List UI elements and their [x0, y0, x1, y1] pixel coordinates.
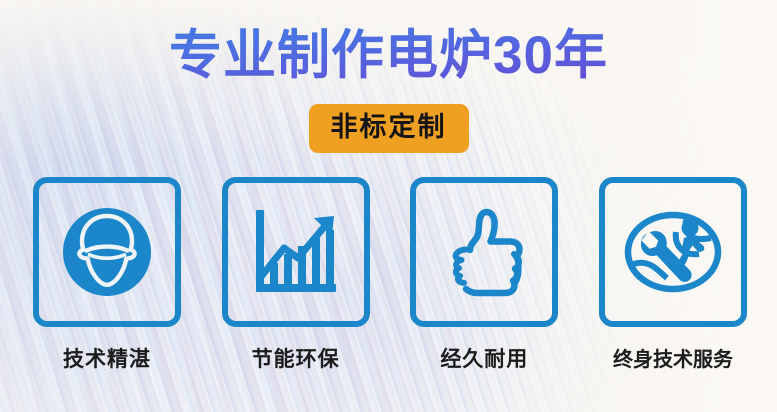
- promo-banner: 专业制作电炉30年 非标定制 技术精湛: [0, 0, 777, 412]
- headline-title: 专业制作电炉30年: [0, 25, 777, 87]
- feature-label: 终身技术服务: [599, 343, 747, 372]
- feature-card[interactable]: 节能环保: [222, 177, 370, 373]
- safety-helmet-worker-icon: [53, 198, 161, 306]
- globe-wrench-service-icon: [617, 202, 729, 302]
- badge-container: 非标定制: [0, 104, 777, 153]
- feature-label: 节能环保: [222, 343, 370, 373]
- feature-card-list: 技术精湛 节能环保: [33, 177, 747, 373]
- feature-icon-box: [33, 177, 181, 327]
- feature-card[interactable]: 技术精湛: [33, 177, 181, 373]
- growth-bar-chart-arrow-icon: [244, 200, 348, 304]
- feature-card[interactable]: 终身技术服务: [599, 177, 747, 373]
- feature-card[interactable]: 经久耐用: [410, 177, 558, 373]
- feature-icon-box: [222, 177, 370, 327]
- feature-icon-box: [599, 177, 747, 327]
- custom-order-badge: 非标定制: [309, 104, 469, 153]
- feature-icon-box: [410, 177, 558, 327]
- thumbs-up-icon: [430, 200, 538, 304]
- feature-label: 经久耐用: [410, 343, 558, 373]
- feature-label: 技术精湛: [33, 343, 181, 373]
